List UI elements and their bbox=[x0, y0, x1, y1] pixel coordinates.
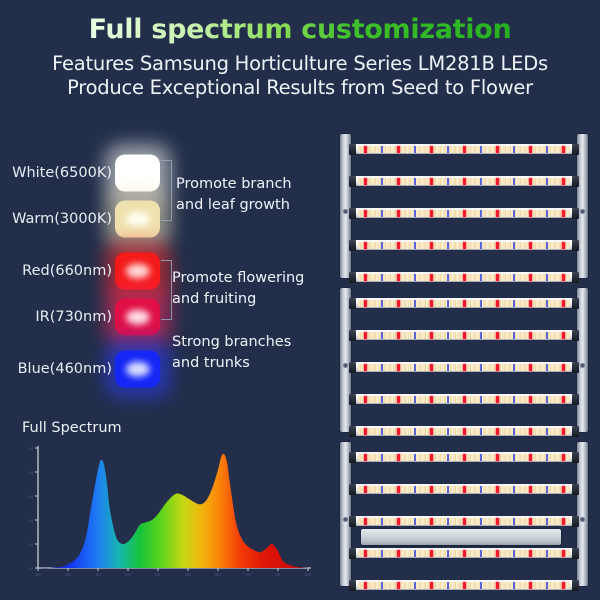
red-diode bbox=[364, 178, 367, 185]
blue-diode bbox=[447, 146, 449, 153]
red-diode bbox=[529, 396, 532, 403]
chart-title: Full Spectrum bbox=[22, 420, 122, 436]
blue-diode bbox=[447, 550, 449, 557]
svg-text:650: 650 bbox=[215, 573, 221, 577]
blue-diode bbox=[546, 486, 548, 493]
blue-diode bbox=[513, 332, 515, 339]
blue-diode bbox=[381, 550, 383, 557]
blue-diode bbox=[513, 518, 515, 525]
red-diode bbox=[364, 396, 367, 403]
led-bar-end-cap-right bbox=[572, 298, 579, 309]
red-diode bbox=[397, 396, 400, 403]
blue-diode bbox=[546, 242, 548, 249]
blue-diode bbox=[513, 550, 515, 557]
blue-diode bbox=[480, 582, 482, 589]
blue-diode bbox=[513, 242, 515, 249]
red-diode bbox=[364, 486, 367, 493]
blue-diode bbox=[414, 364, 416, 371]
red-led-swatch bbox=[115, 253, 160, 290]
red-diode bbox=[463, 454, 466, 461]
red-diode bbox=[562, 178, 565, 185]
svg-text:0.2: 0.2 bbox=[28, 543, 33, 547]
frame-rail-left-3 bbox=[340, 442, 351, 586]
blue-diode bbox=[447, 582, 449, 589]
led-bar-end-cap-left bbox=[349, 580, 356, 591]
blue-diode bbox=[513, 146, 515, 153]
red-diode bbox=[463, 300, 466, 307]
callout-growth-line1: Promote branch bbox=[176, 174, 292, 195]
led-bar-accent-diodes bbox=[358, 454, 570, 461]
red-diode bbox=[463, 582, 466, 589]
red-diode bbox=[430, 428, 433, 435]
red-diode bbox=[430, 518, 433, 525]
blue-diode bbox=[447, 396, 449, 403]
blue-diode bbox=[480, 428, 482, 435]
blue-diode bbox=[513, 396, 515, 403]
blue-diode bbox=[414, 396, 416, 403]
led-bar-8 bbox=[349, 362, 579, 372]
blue-diode bbox=[381, 428, 383, 435]
red-diode bbox=[496, 210, 499, 217]
red-diode bbox=[364, 146, 367, 153]
blue-diode bbox=[381, 242, 383, 249]
svg-text:0.8: 0.8 bbox=[28, 471, 33, 475]
led-grow-light-panel bbox=[333, 132, 595, 594]
red-diode bbox=[364, 454, 367, 461]
blue-diode bbox=[480, 364, 482, 371]
led-bar-end-cap-right bbox=[572, 452, 579, 463]
led-bar-end-cap-right bbox=[572, 272, 579, 283]
svg-text:0.6: 0.6 bbox=[28, 495, 33, 499]
led-bar-accent-diodes bbox=[358, 550, 570, 557]
svg-text:1.0: 1.0 bbox=[28, 447, 33, 451]
red-diode bbox=[529, 428, 532, 435]
blue-diode bbox=[546, 300, 548, 307]
red-diode bbox=[496, 364, 499, 371]
red-diode bbox=[430, 178, 433, 185]
rail-mount-point bbox=[580, 363, 585, 368]
red-diode bbox=[562, 396, 565, 403]
led-bar-end-cap-left bbox=[349, 484, 356, 495]
blue-diode bbox=[414, 486, 416, 493]
blue-diode bbox=[513, 210, 515, 217]
red-diode bbox=[562, 242, 565, 249]
blue-diode bbox=[546, 332, 548, 339]
red-diode bbox=[397, 178, 400, 185]
blue-diode bbox=[381, 454, 383, 461]
blue-diode bbox=[414, 454, 416, 461]
led-bar-end-cap-left bbox=[349, 176, 356, 187]
warm-led-swatch bbox=[115, 201, 160, 238]
red-diode bbox=[496, 242, 499, 249]
red-diode bbox=[463, 550, 466, 557]
led-bar-5 bbox=[349, 272, 579, 282]
red-diode bbox=[430, 210, 433, 217]
blue-diode bbox=[480, 486, 482, 493]
subtitle-block: Features Samsung Horticulture Series LM2… bbox=[0, 52, 600, 100]
led-bar-end-cap-right bbox=[572, 208, 579, 219]
blue-diode bbox=[513, 486, 515, 493]
blue-diode bbox=[480, 332, 482, 339]
blue-diode bbox=[447, 274, 449, 281]
led-bar-accent-diodes bbox=[358, 486, 570, 493]
blue-diode bbox=[513, 364, 515, 371]
blue-diode bbox=[546, 364, 548, 371]
red-diode bbox=[430, 486, 433, 493]
red-diode bbox=[364, 332, 367, 339]
blue-diode bbox=[546, 178, 548, 185]
legend-label-ir: IR(730nm) bbox=[35, 309, 112, 325]
red-diode bbox=[496, 550, 499, 557]
blue-diode bbox=[414, 300, 416, 307]
infographic-root: Full spectrum customization Features Sam… bbox=[0, 0, 600, 600]
blue-diode bbox=[480, 454, 482, 461]
blue-diode bbox=[414, 550, 416, 557]
callout-branches-line2: and trunks bbox=[172, 353, 291, 374]
red-diode bbox=[397, 582, 400, 589]
rail-mount-point bbox=[343, 517, 348, 522]
red-diode bbox=[430, 300, 433, 307]
led-bar-2 bbox=[349, 176, 579, 186]
svg-text:0.4: 0.4 bbox=[28, 519, 33, 523]
led-bar-accent-diodes bbox=[358, 300, 570, 307]
blue-diode bbox=[480, 518, 482, 525]
led-bar-accent-diodes bbox=[358, 178, 570, 185]
led-bar-end-cap-right bbox=[572, 516, 579, 527]
led-bar-9 bbox=[349, 394, 579, 404]
red-diode bbox=[430, 454, 433, 461]
legend-label-red: Red(660nm) bbox=[22, 263, 112, 279]
blue-diode bbox=[546, 454, 548, 461]
blue-diode bbox=[480, 210, 482, 217]
led-bar-1 bbox=[349, 144, 579, 154]
red-diode bbox=[430, 364, 433, 371]
blue-diode bbox=[381, 146, 383, 153]
red-diode bbox=[397, 242, 400, 249]
red-diode bbox=[364, 274, 367, 281]
blue-diode bbox=[480, 274, 482, 281]
blue-diode bbox=[480, 550, 482, 557]
blue-diode bbox=[414, 582, 416, 589]
red-diode bbox=[364, 300, 367, 307]
led-bar-end-cap-right bbox=[572, 240, 579, 251]
blue-diode bbox=[447, 242, 449, 249]
blue-diode bbox=[447, 518, 449, 525]
red-diode bbox=[562, 210, 565, 217]
red-diode bbox=[463, 486, 466, 493]
led-bar-accent-diodes bbox=[358, 210, 570, 217]
red-diode bbox=[430, 332, 433, 339]
red-diode bbox=[397, 332, 400, 339]
blue-diode bbox=[447, 300, 449, 307]
red-diode bbox=[463, 178, 466, 185]
led-bar-4 bbox=[349, 240, 579, 250]
blue-diode bbox=[381, 364, 383, 371]
red-diode bbox=[562, 274, 565, 281]
red-diode bbox=[463, 518, 466, 525]
led-bar-end-cap-left bbox=[349, 272, 356, 283]
red-diode bbox=[430, 582, 433, 589]
blue-diode bbox=[546, 582, 548, 589]
blue-diode bbox=[513, 178, 515, 185]
red-diode bbox=[463, 396, 466, 403]
red-diode bbox=[496, 300, 499, 307]
led-bar-end-cap-left bbox=[349, 548, 356, 559]
led-bar-10 bbox=[349, 426, 579, 436]
led-bar-end-cap-left bbox=[349, 330, 356, 341]
led-bar-3 bbox=[349, 208, 579, 218]
blue-diode bbox=[414, 274, 416, 281]
red-diode bbox=[430, 396, 433, 403]
blue-diode bbox=[513, 274, 515, 281]
red-diode bbox=[562, 550, 565, 557]
blue-diode bbox=[447, 178, 449, 185]
blue-diode bbox=[546, 518, 548, 525]
callout-branches: Strong branches and trunks bbox=[172, 332, 291, 373]
led-bar-end-cap-right bbox=[572, 176, 579, 187]
red-diode bbox=[364, 518, 367, 525]
led-bar-end-cap-left bbox=[349, 208, 356, 219]
blue-diode bbox=[480, 396, 482, 403]
blue-diode bbox=[381, 300, 383, 307]
red-diode bbox=[496, 518, 499, 525]
red-diode bbox=[562, 364, 565, 371]
blue-diode bbox=[414, 428, 416, 435]
red-diode bbox=[529, 300, 532, 307]
led-bar-end-cap-left bbox=[349, 362, 356, 373]
led-bar-14 bbox=[349, 548, 579, 558]
led-bar-end-cap-right bbox=[572, 426, 579, 437]
rail-mount-point bbox=[580, 517, 585, 522]
frame-rail-right-2 bbox=[577, 288, 588, 432]
led-bar-end-cap-right bbox=[572, 484, 579, 495]
callout-flowering: Promote flowering and fruiting bbox=[172, 268, 304, 309]
led-bar-end-cap-right bbox=[572, 362, 579, 373]
led-bar-15 bbox=[349, 580, 579, 590]
blue-diode bbox=[480, 242, 482, 249]
svg-text:750: 750 bbox=[275, 573, 281, 577]
blue-diode bbox=[546, 550, 548, 557]
blue-diode bbox=[414, 146, 416, 153]
led-bar-end-cap-left bbox=[349, 298, 356, 309]
red-diode bbox=[430, 146, 433, 153]
blue-led-swatch bbox=[115, 351, 160, 388]
red-diode bbox=[529, 332, 532, 339]
red-diode bbox=[562, 146, 565, 153]
led-bar-end-cap-right bbox=[572, 548, 579, 559]
red-diode bbox=[496, 274, 499, 281]
blue-diode bbox=[546, 396, 548, 403]
blue-diode bbox=[546, 146, 548, 153]
red-diode bbox=[397, 300, 400, 307]
blue-diode bbox=[381, 582, 383, 589]
blue-diode bbox=[381, 332, 383, 339]
led-bar-accent-diodes bbox=[358, 274, 570, 281]
red-diode bbox=[430, 274, 433, 281]
callout-growth-line2: and leaf growth bbox=[176, 195, 292, 216]
red-diode bbox=[529, 364, 532, 371]
red-diode bbox=[562, 486, 565, 493]
red-diode bbox=[364, 428, 367, 435]
blue-diode bbox=[447, 486, 449, 493]
subtitle-line-1: Features Samsung Horticulture Series LM2… bbox=[0, 52, 600, 76]
blue-diode bbox=[480, 300, 482, 307]
red-diode bbox=[397, 550, 400, 557]
red-diode bbox=[463, 364, 466, 371]
legend-label-white: White(6500K) bbox=[12, 165, 112, 181]
red-diode bbox=[364, 582, 367, 589]
header: Full spectrum customization Features Sam… bbox=[0, 14, 600, 100]
spectrum-area bbox=[38, 454, 308, 568]
blue-diode bbox=[381, 178, 383, 185]
blue-diode bbox=[480, 178, 482, 185]
led-legend: White(6500K) Warm(3000K) Red(660nm) IR(7… bbox=[0, 150, 320, 400]
red-diode bbox=[529, 210, 532, 217]
led-bar-accent-diodes bbox=[358, 518, 570, 525]
blue-diode bbox=[546, 210, 548, 217]
red-diode bbox=[496, 146, 499, 153]
red-diode bbox=[529, 582, 532, 589]
blue-diode bbox=[414, 242, 416, 249]
svg-text:0.0: 0.0 bbox=[28, 567, 33, 571]
red-diode bbox=[562, 428, 565, 435]
svg-text:350: 350 bbox=[35, 573, 41, 577]
led-bar-accent-diodes bbox=[358, 364, 570, 371]
led-bar-accent-diodes bbox=[358, 146, 570, 153]
reflector-plate bbox=[361, 529, 561, 545]
bracket-flowering bbox=[161, 260, 172, 320]
red-diode bbox=[397, 518, 400, 525]
red-diode bbox=[397, 428, 400, 435]
led-bar-13 bbox=[349, 516, 579, 526]
led-bar-6 bbox=[349, 298, 579, 308]
led-bar-accent-diodes bbox=[358, 582, 570, 589]
led-bar-7 bbox=[349, 330, 579, 340]
red-diode bbox=[397, 210, 400, 217]
red-diode bbox=[529, 550, 532, 557]
red-diode bbox=[463, 332, 466, 339]
red-diode bbox=[529, 486, 532, 493]
red-diode bbox=[430, 550, 433, 557]
red-diode bbox=[529, 178, 532, 185]
red-diode bbox=[529, 518, 532, 525]
red-diode bbox=[397, 454, 400, 461]
led-bar-accent-diodes bbox=[358, 242, 570, 249]
svg-text:450: 450 bbox=[95, 573, 101, 577]
red-diode bbox=[496, 486, 499, 493]
red-diode bbox=[463, 428, 466, 435]
blue-diode bbox=[447, 364, 449, 371]
blue-diode bbox=[447, 428, 449, 435]
rail-mount-point bbox=[343, 363, 348, 368]
rail-mount-point bbox=[343, 209, 348, 214]
blue-diode bbox=[447, 210, 449, 217]
red-diode bbox=[562, 454, 565, 461]
red-diode bbox=[397, 146, 400, 153]
red-diode bbox=[496, 332, 499, 339]
blue-diode bbox=[546, 274, 548, 281]
frame-rail-left-2 bbox=[340, 288, 351, 432]
red-diode bbox=[397, 364, 400, 371]
blue-diode bbox=[447, 332, 449, 339]
led-bar-end-cap-right bbox=[572, 394, 579, 405]
blue-diode bbox=[381, 518, 383, 525]
blue-diode bbox=[447, 454, 449, 461]
led-bar-end-cap-left bbox=[349, 240, 356, 251]
red-diode bbox=[496, 178, 499, 185]
frame-rail-left-1 bbox=[340, 134, 351, 278]
red-diode bbox=[562, 582, 565, 589]
frame-rail-right-1 bbox=[577, 134, 588, 278]
led-bar-12 bbox=[349, 484, 579, 494]
blue-diode bbox=[381, 210, 383, 217]
svg-text:800: 800 bbox=[305, 573, 311, 577]
white-led-swatch bbox=[115, 155, 160, 192]
red-diode bbox=[529, 274, 532, 281]
red-diode bbox=[463, 210, 466, 217]
legend-label-warm: Warm(3000K) bbox=[12, 211, 112, 227]
red-diode bbox=[529, 146, 532, 153]
led-bar-accent-diodes bbox=[358, 396, 570, 403]
blue-diode bbox=[513, 300, 515, 307]
red-diode bbox=[397, 486, 400, 493]
led-bar-end-cap-left bbox=[349, 452, 356, 463]
led-bar-end-cap-right bbox=[572, 580, 579, 591]
callout-flowering-line2: and fruiting bbox=[172, 289, 304, 310]
callout-flowering-line1: Promote flowering bbox=[172, 268, 304, 289]
blue-diode bbox=[414, 178, 416, 185]
led-bar-accent-diodes bbox=[358, 428, 570, 435]
spectrum-chart-svg: 0.00.20.40.60.81.03504004505005506006507… bbox=[8, 440, 318, 590]
led-bar-end-cap-left bbox=[349, 516, 356, 527]
svg-text:700: 700 bbox=[245, 573, 251, 577]
led-bar-11 bbox=[349, 452, 579, 462]
blue-diode bbox=[513, 428, 515, 435]
blue-diode bbox=[513, 454, 515, 461]
red-diode bbox=[496, 396, 499, 403]
red-diode bbox=[364, 210, 367, 217]
red-diode bbox=[529, 242, 532, 249]
blue-diode bbox=[381, 396, 383, 403]
red-diode bbox=[496, 454, 499, 461]
svg-text:500: 500 bbox=[125, 573, 131, 577]
red-diode bbox=[397, 274, 400, 281]
blue-diode bbox=[414, 210, 416, 217]
red-diode bbox=[364, 364, 367, 371]
red-diode bbox=[364, 550, 367, 557]
rail-mount-point bbox=[580, 209, 585, 214]
bracket-growth bbox=[161, 160, 172, 221]
blue-diode bbox=[381, 274, 383, 281]
led-bar-end-cap-right bbox=[572, 144, 579, 155]
led-bar-end-cap-left bbox=[349, 394, 356, 405]
blue-diode bbox=[414, 518, 416, 525]
led-bar-end-cap-right bbox=[572, 330, 579, 341]
spectrum-chart: Full Spectrum 0.00.20.40. bbox=[8, 418, 318, 593]
red-diode bbox=[562, 300, 565, 307]
led-bar-accent-diodes bbox=[358, 332, 570, 339]
red-diode bbox=[529, 454, 532, 461]
callout-growth: Promote branch and leaf growth bbox=[176, 174, 292, 215]
red-diode bbox=[364, 242, 367, 249]
led-bar-end-cap-left bbox=[349, 426, 356, 437]
blue-diode bbox=[414, 332, 416, 339]
svg-text:550: 550 bbox=[155, 573, 161, 577]
blue-diode bbox=[480, 146, 482, 153]
blue-diode bbox=[381, 486, 383, 493]
blue-diode bbox=[513, 582, 515, 589]
blue-diode bbox=[546, 428, 548, 435]
